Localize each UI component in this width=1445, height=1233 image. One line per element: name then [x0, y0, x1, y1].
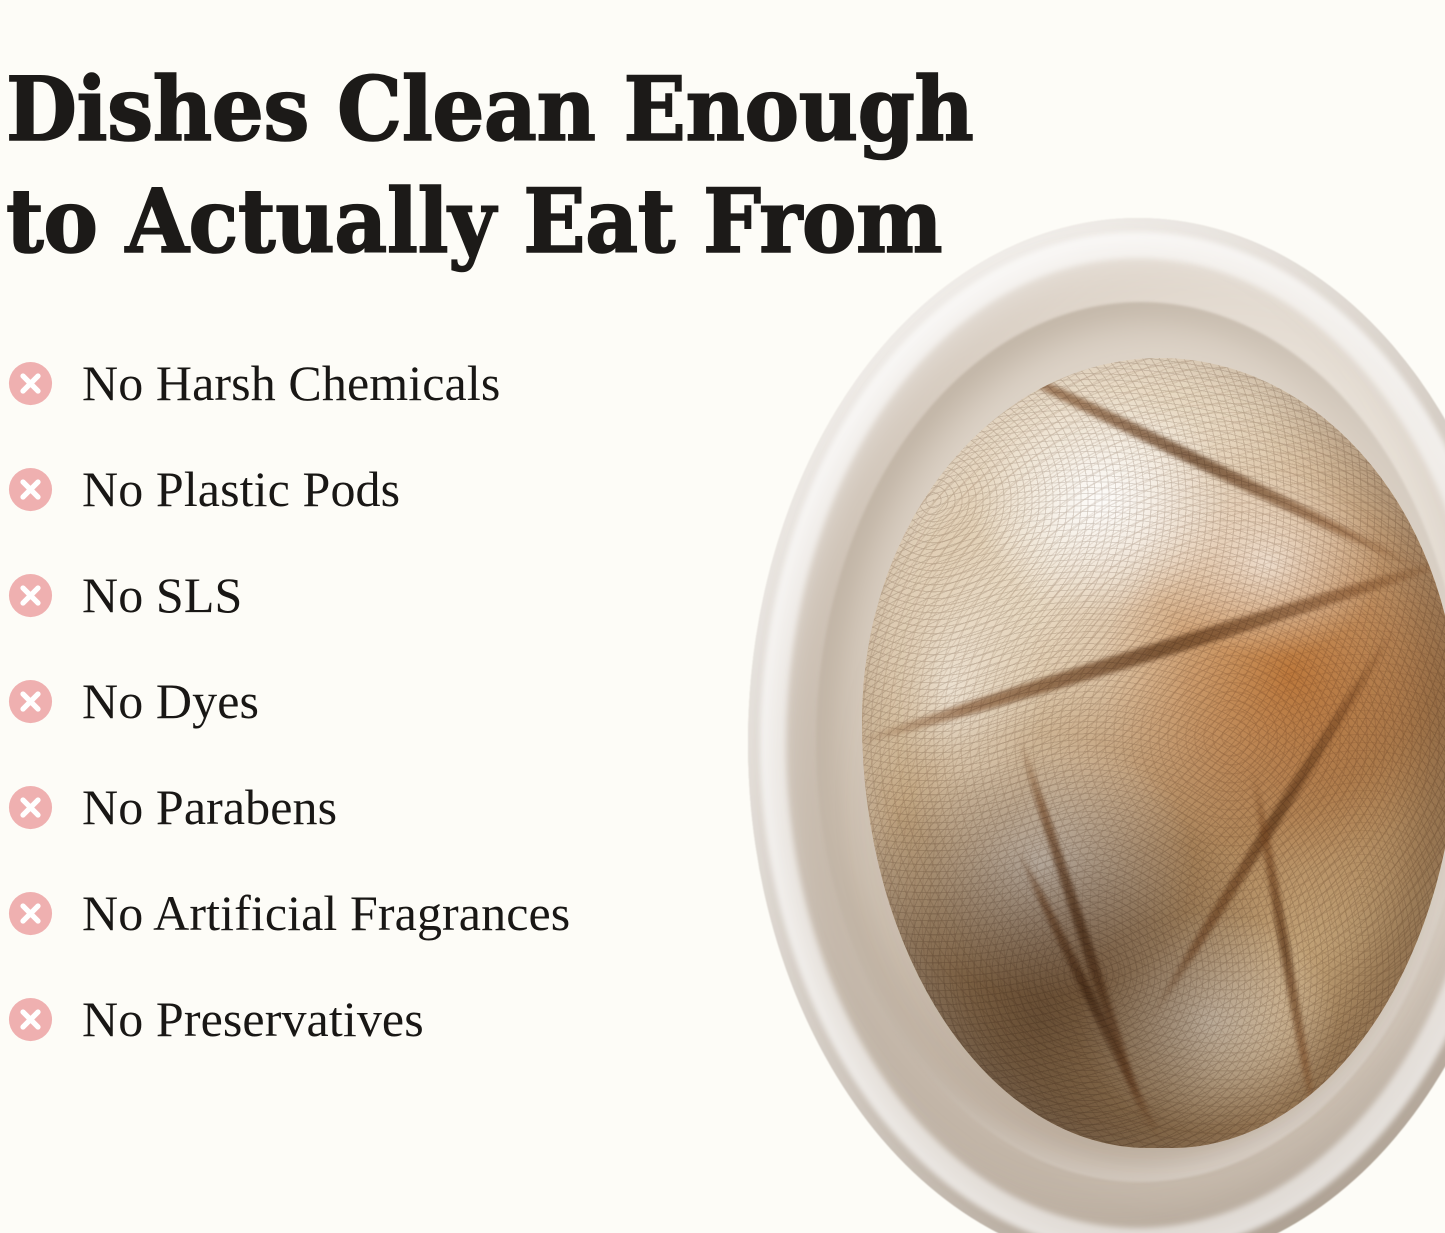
bread-crust-bake-tone	[862, 358, 1445, 1148]
bread-score-mark	[1248, 765, 1322, 1131]
x-circle-icon	[8, 361, 53, 406]
x-circle-icon	[8, 467, 53, 512]
x-circle-icon	[8, 679, 53, 724]
bread-contact-shadow	[846, 360, 1445, 1160]
benefit-label: No Harsh Chemicals	[82, 358, 500, 408]
bread-crumb-speckle	[862, 358, 1445, 1148]
plate-body	[748, 218, 1445, 1233]
plate-rim	[760, 232, 1445, 1233]
page-title: Dishes Clean Enough to Actually Eat From	[6, 53, 992, 277]
bread-score-mark	[1145, 622, 1402, 1023]
bread-score-mark	[862, 549, 1445, 752]
list-item: No SLS	[0, 542, 740, 648]
bread-score-mark	[968, 358, 1424, 575]
list-item: No Harsh Chemicals	[0, 330, 740, 436]
benefit-label: No Preservatives	[82, 994, 424, 1044]
benefit-label: No Artificial Fragrances	[82, 888, 570, 938]
bread-flour-dusting	[862, 358, 1445, 1148]
promo-image-canvas: Dishes Clean Enough to Actually Eat From…	[0, 0, 1445, 1233]
benefit-label: No Dyes	[82, 676, 259, 726]
plate-with-sourdough-bread-photo	[742, 210, 1445, 1233]
bread-score-mark	[1013, 732, 1152, 1132]
x-circle-icon	[8, 573, 53, 618]
benefit-label: No SLS	[82, 570, 242, 620]
x-circle-icon	[8, 891, 53, 936]
plate-inner-well	[816, 302, 1445, 1182]
benefit-label: No Parabens	[82, 782, 337, 832]
x-circle-icon	[8, 997, 53, 1042]
x-circle-icon	[8, 785, 53, 830]
list-item: No Plastic Pods	[0, 436, 740, 542]
list-item: No Dyes	[0, 648, 740, 754]
bread-score-mark	[1011, 843, 1166, 1147]
list-item: No Preservatives	[0, 966, 740, 1072]
sourdough-loaf	[862, 358, 1445, 1148]
benefit-label: No Plastic Pods	[82, 464, 400, 514]
benefits-list: No Harsh Chemicals No Plastic Pods No SL…	[0, 330, 740, 1072]
list-item: No Artificial Fragrances	[0, 860, 740, 966]
bread-shadowed-crust	[862, 358, 1445, 1148]
list-item: No Parabens	[0, 754, 740, 860]
